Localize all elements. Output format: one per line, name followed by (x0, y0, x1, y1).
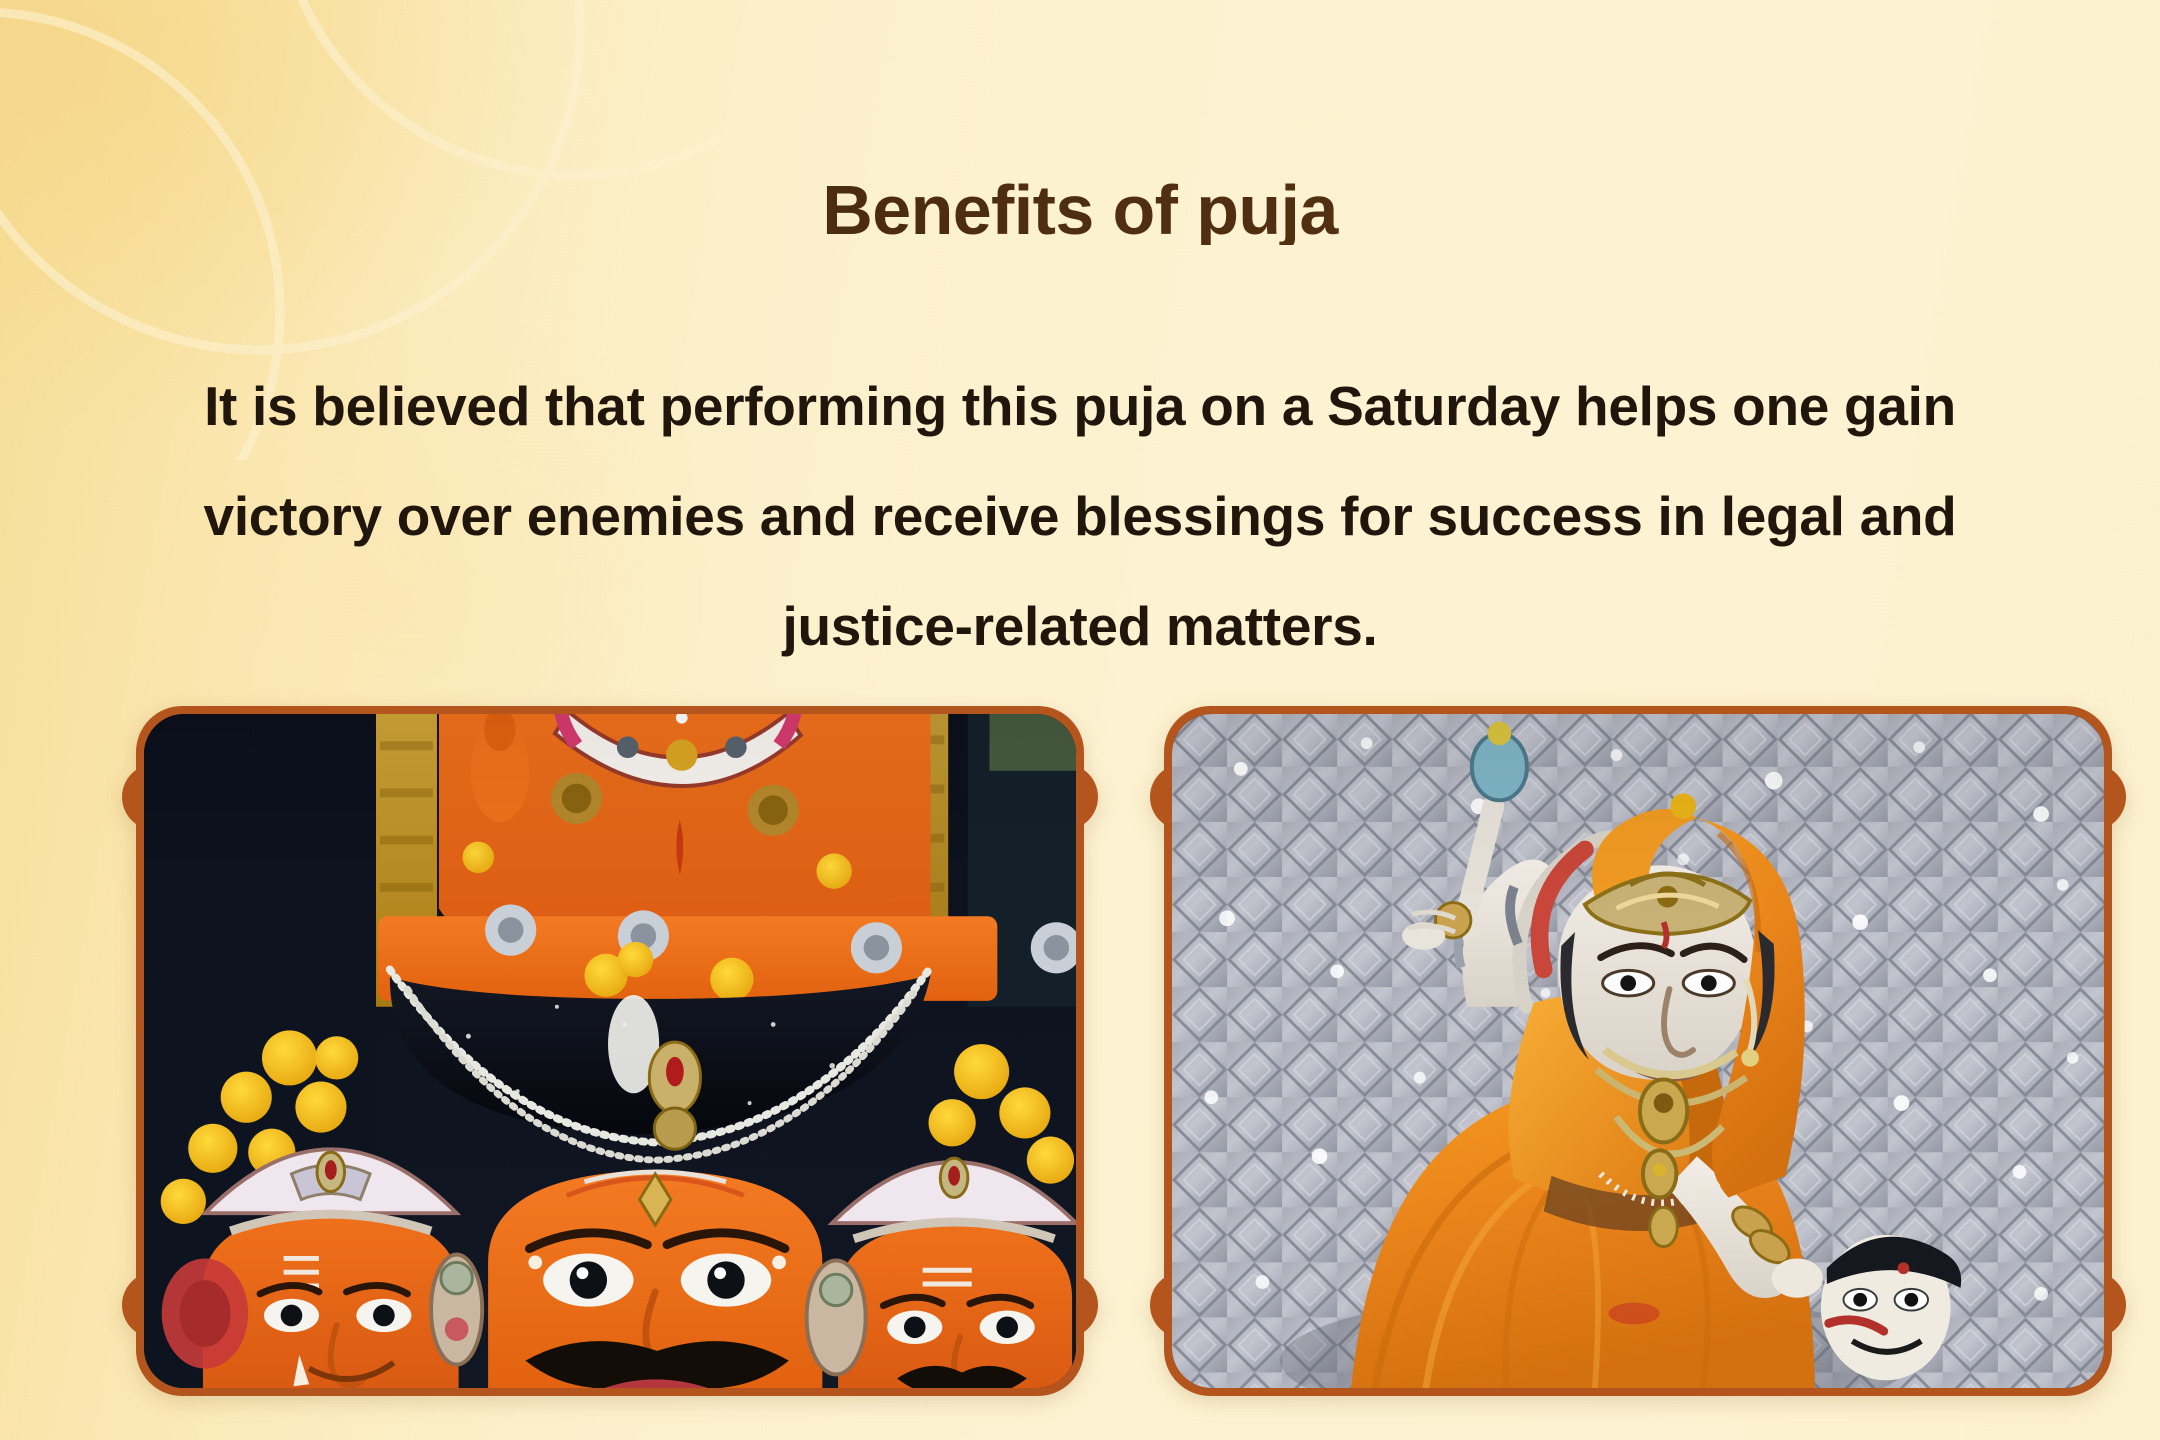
image-gallery: Three orange-faced deity idols with blac… (96, 690, 2064, 1380)
gallery-item-right[interactable]: Goddess idol draped in an orange saree h… (1164, 706, 2112, 1396)
page-title: Benefits of puja (0, 175, 2160, 245)
description-paragraph: It is believed that performing this puja… (130, 351, 2030, 681)
poster-canvas: Benefits of puja It is believed that per… (0, 0, 2160, 1440)
khandoba-deity-idols-photo (144, 714, 1076, 1388)
gallery-item-left[interactable]: Three orange-faced deity idols with blac… (136, 706, 1084, 1396)
goddess-idol-photo (1172, 714, 2104, 1388)
